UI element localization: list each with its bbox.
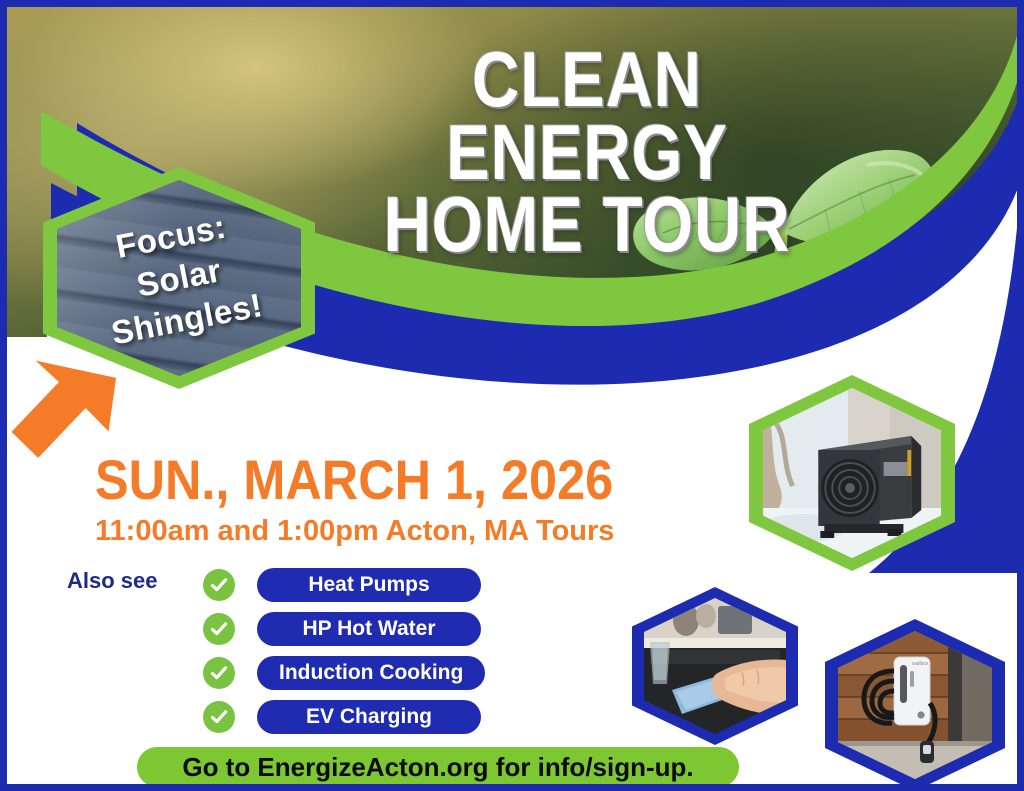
list-item[interactable]: HP Hot Water bbox=[203, 607, 533, 651]
green-check-icon bbox=[203, 613, 235, 645]
green-check-icon bbox=[203, 701, 235, 733]
flyer-canvas: CLEAN ENERGY HOME TOUR Focus: Solar Shin… bbox=[0, 0, 1024, 791]
page-title: CLEAN ENERGY HOME TOUR bbox=[352, 43, 822, 261]
title-line-1: CLEAN ENERGY bbox=[446, 35, 728, 196]
list-item[interactable]: Heat Pumps bbox=[203, 563, 533, 607]
list-item[interactable]: EV Charging bbox=[203, 695, 533, 739]
pill-induction-cooking[interactable]: Induction Cooking bbox=[257, 656, 485, 690]
event-times-location: 11:00am and 1:00pm Acton, MA Tours bbox=[95, 515, 614, 548]
also-see-list: Heat Pumps HP Hot Water Induction Cookin… bbox=[203, 563, 533, 739]
green-check-icon bbox=[203, 657, 235, 689]
green-check-icon bbox=[203, 569, 235, 601]
svg-text:wallbox: wallbox bbox=[912, 661, 929, 667]
event-date: SUN., MARCH 1, 2026 bbox=[95, 447, 613, 512]
also-see-label: Also see bbox=[67, 568, 158, 594]
cta-banner[interactable]: Go to EnergizeActon.org for info/sign-up… bbox=[137, 747, 739, 787]
pill-ev-charging[interactable]: EV Charging bbox=[257, 700, 481, 734]
list-item[interactable]: Induction Cooking bbox=[203, 651, 533, 695]
pill-heat-pumps[interactable]: Heat Pumps bbox=[257, 568, 481, 602]
pill-hp-hot-water[interactable]: HP Hot Water bbox=[257, 612, 481, 646]
induction-cooking-photo-hexagon bbox=[632, 587, 798, 745]
heat-pump-photo-hexagon bbox=[749, 375, 955, 571]
title-line-2: HOME TOUR bbox=[352, 188, 822, 261]
ev-charger-photo-hexagon: wallbox bbox=[825, 619, 1005, 791]
